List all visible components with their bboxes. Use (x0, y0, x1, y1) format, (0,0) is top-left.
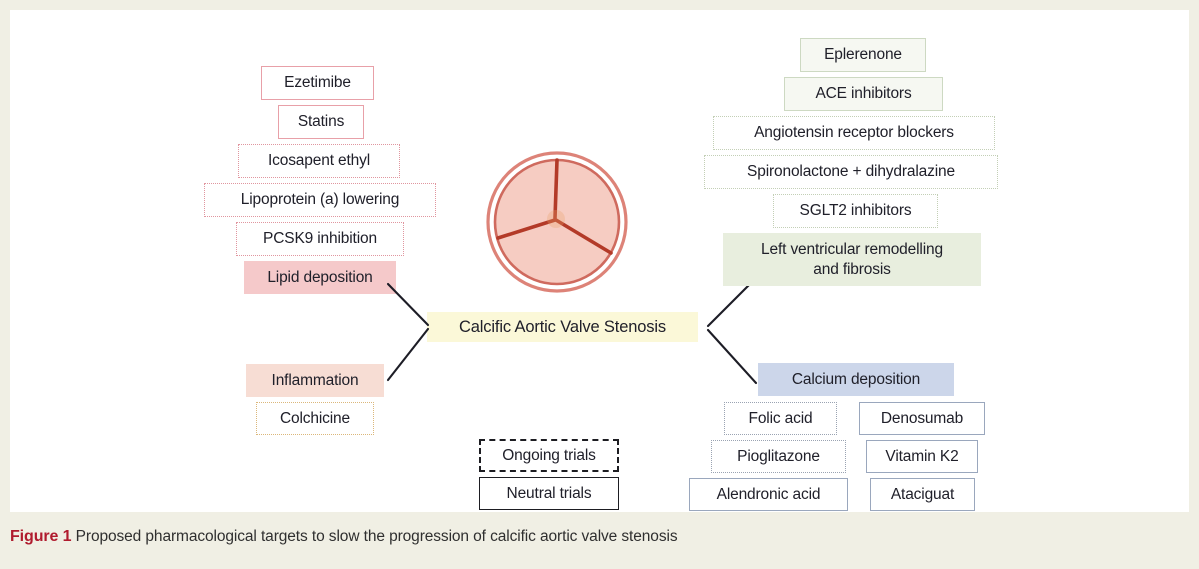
drug-label: Angiotensin receptor blockers (754, 124, 954, 142)
drug-box-vitamin-k2: Vitamin K2 (866, 440, 978, 473)
drug-box-pcsk9-inhibition: PCSK9 inhibition (236, 222, 404, 256)
drug-label: Ataciguat (891, 486, 954, 504)
figure-root: Ezetimibe Statins Icosapent ethyl Lipopr… (0, 0, 1199, 569)
figure-caption: Figure 1 Proposed pharmacological target… (10, 528, 1189, 546)
legend-label: Ongoing trials (502, 447, 596, 465)
drug-box-pioglitazone: Pioglitazone (711, 440, 846, 473)
drug-label: Statins (298, 113, 344, 131)
connector-right-bracket (700, 280, 758, 385)
drug-label: Lipoprotein (a) lowering (241, 191, 399, 209)
drug-label: Denosumab (881, 410, 963, 428)
legend-ongoing-trials: Ongoing trials (479, 439, 619, 472)
drug-label: SGLT2 inhibitors (800, 202, 912, 220)
hub-lipid-deposition: Lipid deposition (244, 261, 396, 294)
drug-box-alendronic-acid: Alendronic acid (689, 478, 848, 511)
drug-label: ACE inhibitors (815, 85, 911, 103)
drug-box-denosumab: Denosumab (859, 402, 985, 435)
hub-label: Calcium deposition (792, 371, 920, 389)
drug-box-ace-inhibitors: ACE inhibitors (784, 77, 943, 111)
legend-label: Neutral trials (507, 485, 592, 503)
drug-box-ezetimibe: Ezetimibe (261, 66, 374, 100)
drug-label: Icosapent ethyl (268, 152, 370, 170)
drug-box-spironolactone-dihydralazine: Spironolactone + dihydralazine (704, 155, 998, 189)
connector-left-bracket (386, 282, 436, 382)
hub-label-line1: Left ventricular remodelling (761, 240, 943, 259)
center-node-calcific-aortic-valve-stenosis: Calcific Aortic Valve Stenosis (427, 312, 698, 342)
hub-label: Lipid deposition (267, 269, 372, 287)
drug-box-statins: Statins (278, 105, 364, 139)
figure-panel: Ezetimibe Statins Icosapent ethyl Lipopr… (10, 10, 1189, 512)
drug-label: Spironolactone + dihydralazine (747, 163, 955, 181)
drug-box-angiotensin-receptor-blockers: Angiotensin receptor blockers (713, 116, 995, 150)
drug-box-icosapent-ethyl: Icosapent ethyl (238, 144, 400, 178)
drug-label: Eplerenone (824, 46, 902, 64)
drug-box-colchicine: Colchicine (256, 402, 374, 435)
hub-label: Inflammation (272, 372, 359, 390)
drug-label: Ezetimibe (284, 74, 351, 92)
center-label: Calcific Aortic Valve Stenosis (459, 318, 666, 337)
caption-text: Proposed pharmacological targets to slow… (71, 528, 677, 545)
drug-label: Pioglitazone (737, 448, 820, 466)
hub-label-line2: and fibrosis (813, 260, 890, 279)
figure-number: Figure 1 (10, 528, 71, 545)
legend-neutral-trials: Neutral trials (479, 477, 619, 510)
hub-calcium-deposition: Calcium deposition (758, 363, 954, 396)
drug-label: Colchicine (280, 410, 350, 428)
drug-label: PCSK9 inhibition (263, 230, 377, 248)
drug-box-sglt2-inhibitors: SGLT2 inhibitors (773, 194, 938, 228)
drug-box-eplerenone: Eplerenone (800, 38, 926, 72)
drug-label: Alendronic acid (717, 486, 821, 504)
drug-box-ataciguat: Ataciguat (870, 478, 975, 511)
drug-label: Vitamin K2 (885, 448, 958, 466)
aortic-valve-illustration (485, 150, 629, 294)
hub-left-ventricular-remodelling: Left ventricular remodelling and fibrosi… (723, 233, 981, 286)
drug-label: Folic acid (749, 410, 813, 428)
drug-box-folic-acid: Folic acid (724, 402, 837, 435)
drug-box-lipoprotein-a-lowering: Lipoprotein (a) lowering (204, 183, 436, 217)
hub-inflammation: Inflammation (246, 364, 384, 397)
